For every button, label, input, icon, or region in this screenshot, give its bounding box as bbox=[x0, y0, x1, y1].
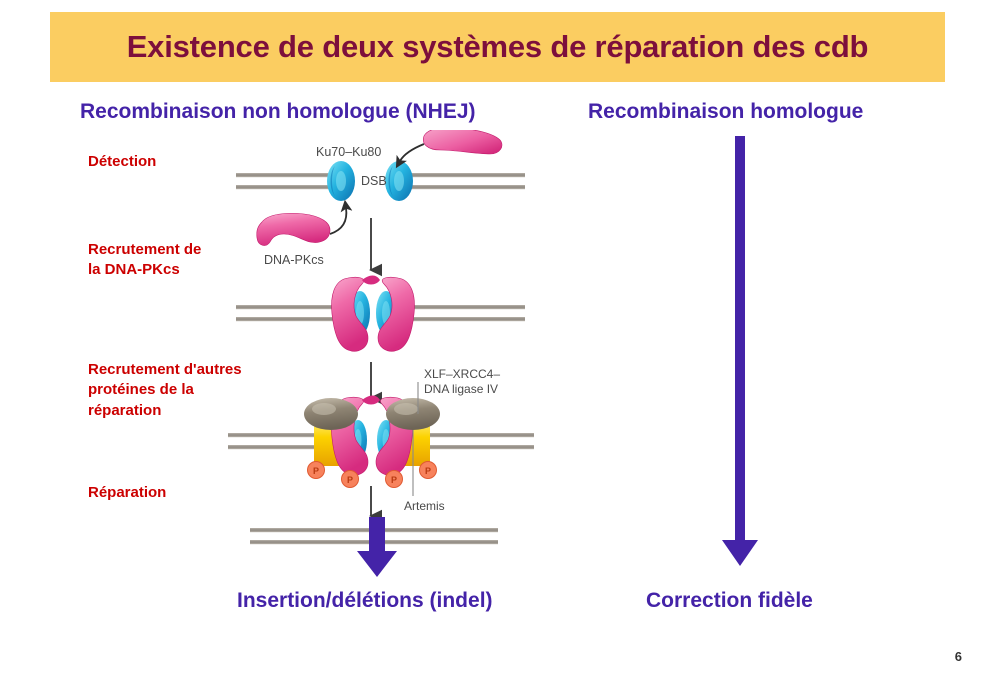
outcome-label-correction-fidele: Correction fidèle bbox=[646, 589, 813, 613]
heading-nhej: Recombinaison non homologue (NHEJ) bbox=[80, 100, 476, 124]
step-label-recrutement-autres-proteines: Recrutement d'autres protéines de la rép… bbox=[88, 360, 242, 421]
arrow-dnapkcs-to-ku-left bbox=[330, 208, 346, 234]
dnapkcs-protein-top bbox=[423, 130, 502, 154]
slide: Existence de deux systèmes de réparation… bbox=[0, 0, 1000, 694]
outcome-arrow-homologous-recombination bbox=[718, 136, 762, 573]
svg-text:P: P bbox=[313, 466, 319, 476]
svg-text:P: P bbox=[425, 466, 431, 476]
step-label-detection: Détection bbox=[88, 152, 156, 172]
page-number: 6 bbox=[955, 649, 962, 664]
arrow-dnapkcs-to-ku-right bbox=[400, 144, 424, 161]
title-banner: Existence de deux systèmes de réparation… bbox=[50, 12, 945, 82]
step-label-reparation: Réparation bbox=[88, 483, 166, 503]
outcome-label-indel: Insertion/délétions (indel) bbox=[237, 589, 493, 613]
label-dsb: DSB bbox=[361, 174, 387, 188]
page-title: Existence de deux systèmes de réparation… bbox=[127, 29, 869, 65]
dnapkcs-clamp-stage2 bbox=[332, 276, 415, 352]
ku-heterodimer-right bbox=[385, 161, 413, 201]
svg-text:P: P bbox=[347, 475, 353, 485]
dna-duplex-stage1-left bbox=[236, 173, 336, 189]
dnapkcs-protein-left bbox=[257, 213, 330, 245]
outcome-arrow-nhej bbox=[355, 517, 399, 584]
heading-homologous-recombination: Recombinaison homologue bbox=[588, 100, 863, 124]
ku-heterodimer-left bbox=[327, 161, 355, 201]
label-ligase-line2: DNA ligase IV bbox=[424, 382, 498, 396]
label-ku70-ku80: Ku70–Ku80 bbox=[316, 145, 381, 159]
dna-duplex-stage1-right bbox=[405, 173, 525, 189]
label-dnapkcs: DNA-PKcs bbox=[264, 253, 324, 267]
step-label-recrutement-dnapkcs: Recrutement de la DNA-PKcs bbox=[88, 240, 201, 281]
label-artemis: Artemis bbox=[404, 499, 445, 513]
label-ligase-line1: XLF–XRCC4– bbox=[424, 367, 500, 381]
svg-text:P: P bbox=[391, 475, 397, 485]
nhej-mechanism-figure: Ku70–Ku80 DSB DNA-PKcs bbox=[228, 130, 548, 560]
